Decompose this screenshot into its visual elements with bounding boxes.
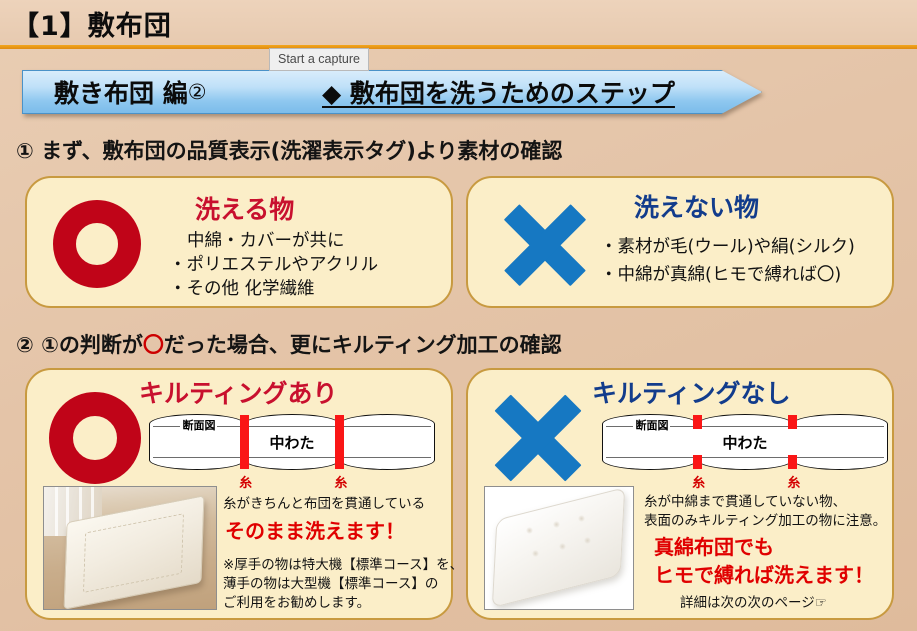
quilted-cross-section-diagram: 断面図 中わた 糸 糸	[149, 414, 435, 470]
thread-label: 糸	[334, 472, 347, 491]
circle-o-mark	[53, 200, 141, 288]
quilted-note-2: ご利用をお勧めします。	[223, 594, 370, 613]
step-2-text-a: ② ①の判断が	[16, 333, 143, 357]
quilted-caption: 糸がきちんと布団を貫通している	[223, 492, 425, 512]
slide-canvas: 【1】敷布団 Start a capture 敷き布団 編 ② ◆ 敷布団を洗う…	[0, 0, 917, 631]
quilted-heading: キルティングあり	[139, 374, 338, 410]
page-title: 【1】敷布団	[12, 4, 172, 43]
banner-left-group: 敷き布団 編 ②	[54, 70, 207, 114]
not-quilted-footer: 詳細は次の次のページ☞	[680, 594, 827, 613]
cross-x-mark	[488, 388, 588, 488]
quilted-note-0: ※厚手の物は特大機【標準コース】を、	[223, 556, 463, 575]
thread-label: 糸	[239, 472, 252, 491]
not-washable-heading: 洗えない物	[634, 188, 759, 224]
step-2-heading: ② ①の判断が〇だった場合、更にキルティング加工の確認	[16, 329, 562, 359]
section-label: 断面図	[633, 417, 670, 433]
not-washable-line-1: ・中綿が真綿(ヒモで縛れば〇)	[600, 264, 841, 287]
washable-heading: 洗える物	[195, 190, 294, 226]
banner-left-circled-number: ②	[188, 80, 207, 104]
filling-label: 中わた	[602, 432, 888, 453]
not-quilted-panel: キルティングなし 断面図 中わた 糸 糸 糸が中綿まで貫通していない物、 表面の…	[466, 368, 894, 620]
section-label: 断面図	[180, 417, 217, 433]
not-quilted-caption-0: 糸が中綿まで貫通していない物、	[644, 490, 846, 510]
quilted-highlight: そのまま洗えます！	[225, 518, 405, 544]
banner-right-label: ◆ 敷布団を洗うためのステップ	[322, 70, 675, 114]
not-quilted-futon-photo	[484, 486, 634, 610]
washable-line-0: 中綿・カバーが共に	[187, 230, 345, 253]
not-quilted-caption-1: 表面のみキルティング加工の物に注意。	[644, 509, 886, 529]
thread-label: 糸	[692, 472, 705, 491]
washable-line-2: ・その他 化学繊維	[169, 278, 315, 301]
quilted-panel: キルティングあり 断面図 中わた 糸 糸 糸がきちんと布団を貫通している そのま…	[25, 368, 453, 620]
section-banner: 敷き布団 編 ② ◆ 敷布団を洗うためのステップ	[22, 70, 762, 114]
cross-x-mark	[498, 198, 592, 292]
thread-label: 糸	[787, 472, 800, 491]
not-washable-line-0: ・素材が毛(ウール)や絹(シルク)	[600, 236, 855, 259]
title-divider-rule	[0, 45, 917, 49]
step-2-circle-mark: 〇	[143, 333, 164, 357]
step-2-text-b: だった場合、更にキルティング加工の確認	[164, 333, 562, 357]
not-quilted-highlight-0: 真綿布団でも	[654, 534, 774, 560]
filling-label: 中わた	[149, 432, 435, 453]
quilted-futon-photo	[43, 486, 217, 610]
not-quilted-cross-section-diagram: 断面図 中わた 糸 糸	[602, 414, 888, 470]
not-quilted-heading: キルティングなし	[592, 374, 791, 410]
circle-o-mark	[49, 392, 141, 484]
title-bar: 【1】敷布団	[0, 0, 917, 45]
washable-panel: 洗える物 中綿・カバーが共に ・ポリエステルやアクリル ・その他 化学繊維	[25, 176, 453, 308]
step-1-heading: ① まず、敷布団の品質表示(洗濯表示タグ)より素材の確認	[16, 135, 562, 165]
washable-line-1: ・ポリエステルやアクリル	[169, 254, 378, 277]
not-washable-panel: 洗えない物 ・素材が毛(ウール)や絹(シルク) ・中綿が真綿(ヒモで縛れば〇)	[466, 176, 894, 308]
banner-left-label: 敷き布団 編	[54, 74, 188, 110]
quilted-note-1: 薄手の物は大型機【標準コース】の	[223, 575, 438, 594]
not-quilted-highlight-1: ヒモで縛れば洗えます！	[654, 562, 874, 588]
start-capture-tooltip: Start a capture	[269, 48, 369, 71]
